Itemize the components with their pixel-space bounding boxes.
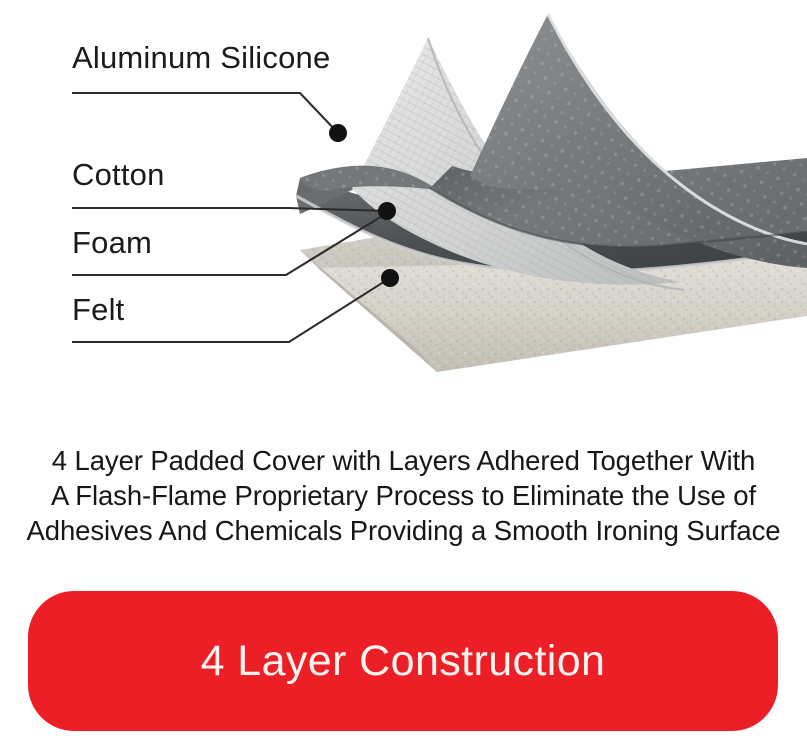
construction-banner: 4 Layer Construction bbox=[28, 591, 778, 731]
callout-dot-aluminum-silicone bbox=[329, 124, 347, 142]
description-line-1: 4 Layer Padded Cover with Layers Adhered… bbox=[0, 443, 807, 478]
description-line-3: Adhesives And Chemicals Providing a Smoo… bbox=[0, 513, 807, 548]
description-line-2: A Flash-Flame Proprietary Process to Eli… bbox=[0, 478, 807, 513]
banner-text: 4 Layer Construction bbox=[201, 640, 606, 683]
callout-label-aluminum-silicone: Aluminum Silicone bbox=[72, 40, 330, 76]
callout-dot-cotton bbox=[378, 202, 396, 220]
callout-label-foam: Foam bbox=[72, 225, 152, 261]
callout-dot-felt bbox=[381, 269, 399, 287]
product-infographic: Aluminum Silicone Cotton Foam Felt 4 Lay… bbox=[0, 0, 807, 747]
callout-label-felt: Felt bbox=[72, 292, 124, 328]
callout-line-aluminum-silicone bbox=[72, 93, 338, 133]
callout-label-cotton: Cotton bbox=[72, 157, 165, 193]
product-description: 4 Layer Padded Cover with Layers Adhered… bbox=[0, 443, 807, 548]
